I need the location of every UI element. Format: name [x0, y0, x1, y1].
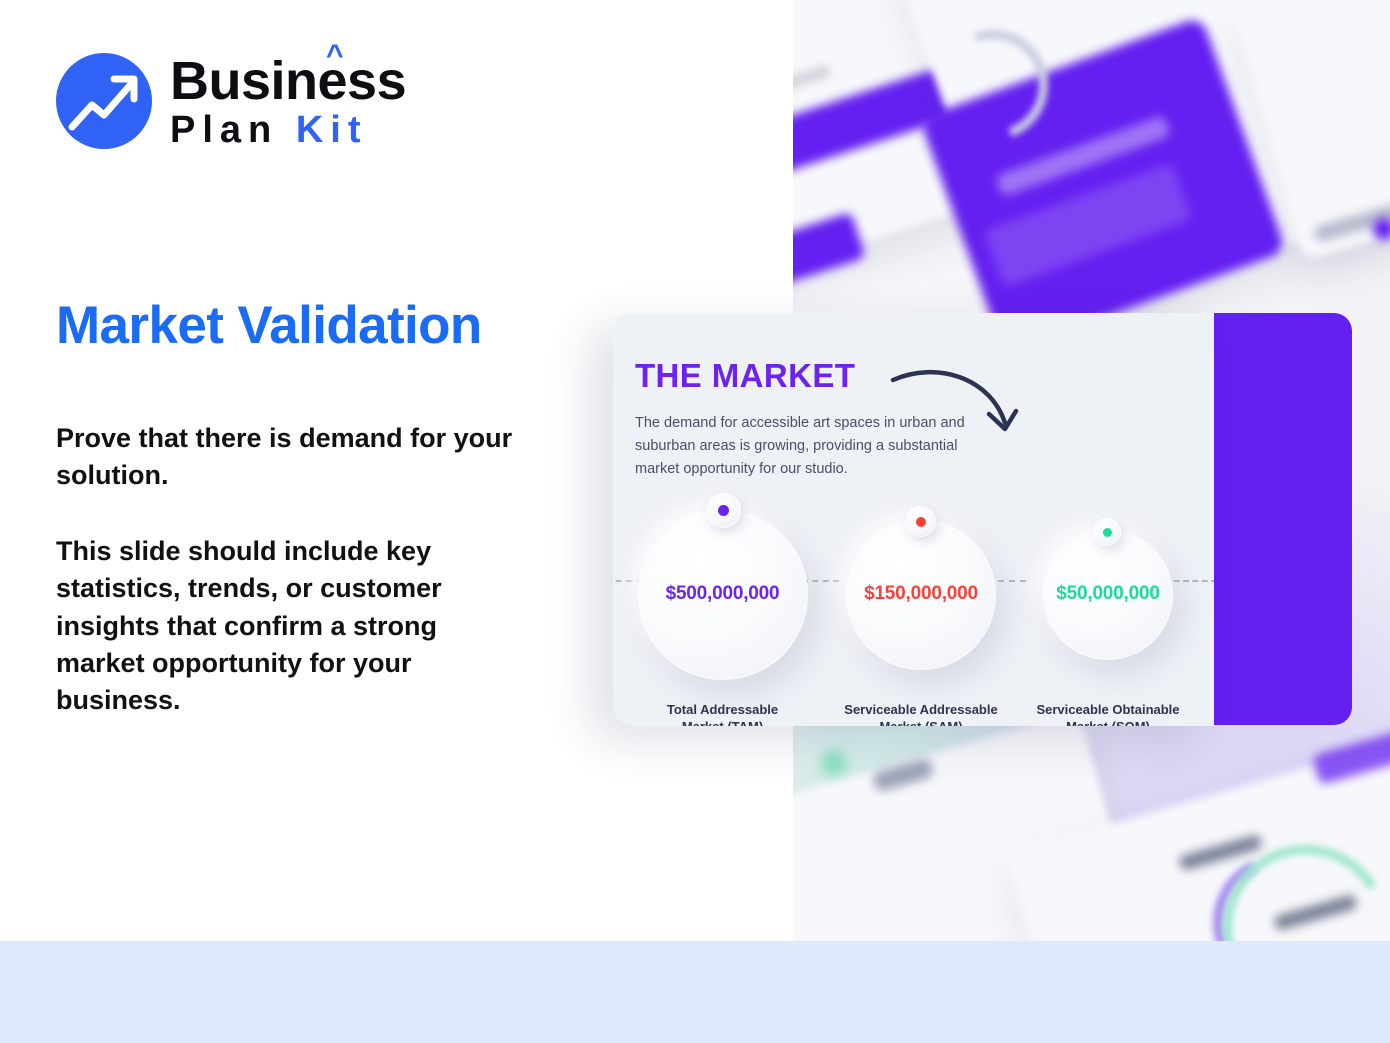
accent-purple-block [1214, 313, 1352, 725]
brand-name-primary: Business ^ [170, 54, 406, 108]
metric-amount-tam: $500,000,000 [630, 583, 815, 605]
red-status-dot-icon [916, 517, 926, 527]
bubble-nub-sam [905, 506, 936, 537]
metric-label-tam: Total Addressable Market (TAM) [630, 701, 815, 726]
metric-label-tam-line2: Market (TAM) [682, 719, 763, 726]
metric-label-som-line2: Market (SOM) [1066, 719, 1150, 726]
bubble-nub-som [1093, 518, 1121, 546]
metric-label-som: Serviceable Obtainable Market (SOM) [1018, 701, 1198, 726]
connector-dash-1-2 [802, 580, 839, 582]
brand-name-secondary: Plan Kit [170, 111, 406, 149]
green-status-dot-icon [1103, 528, 1112, 537]
purple-status-dot-icon [718, 505, 729, 516]
brand-caret-accent: ^ [326, 41, 343, 71]
slide-canvas: Business ^ Plan Kit Market Validation Pr… [0, 0, 1390, 1043]
growth-arrow-chart-icon [56, 53, 152, 149]
bottom-accent-band [0, 941, 1390, 1043]
metric-amount-som: $50,000,000 [1018, 583, 1198, 605]
metric-amount-sam: $150,000,000 [826, 583, 1016, 605]
bubble-nub-tam [706, 493, 741, 528]
market-size-bubbles: $500,000,000 Total Addressable Market (T… [613, 313, 1214, 726]
metric-label-som-line1: Serviceable Obtainable [1036, 702, 1179, 717]
brand-name-plan: Plan [170, 109, 278, 151]
brand-name-business: Business [170, 51, 406, 111]
page-title: Market Validation [56, 298, 482, 354]
body-paragraph: This slide should include key statistics… [56, 533, 516, 719]
brand-name-kit: Kit [296, 109, 368, 151]
market-preview-card: THE MARKET The demand for accessible art… [613, 313, 1214, 726]
metric-label-tam-line1: Total Addressable [667, 702, 778, 717]
metric-label-sam: Serviceable Addressable Market (SAM) [826, 701, 1016, 726]
lead-paragraph: Prove that there is demand for your solu… [56, 420, 576, 495]
metric-label-sam-line1: Serviceable Addressable [844, 702, 997, 717]
metric-label-sam-line2: Market (SAM) [879, 719, 962, 726]
brand-logo[interactable]: Business ^ Plan Kit [56, 53, 406, 149]
